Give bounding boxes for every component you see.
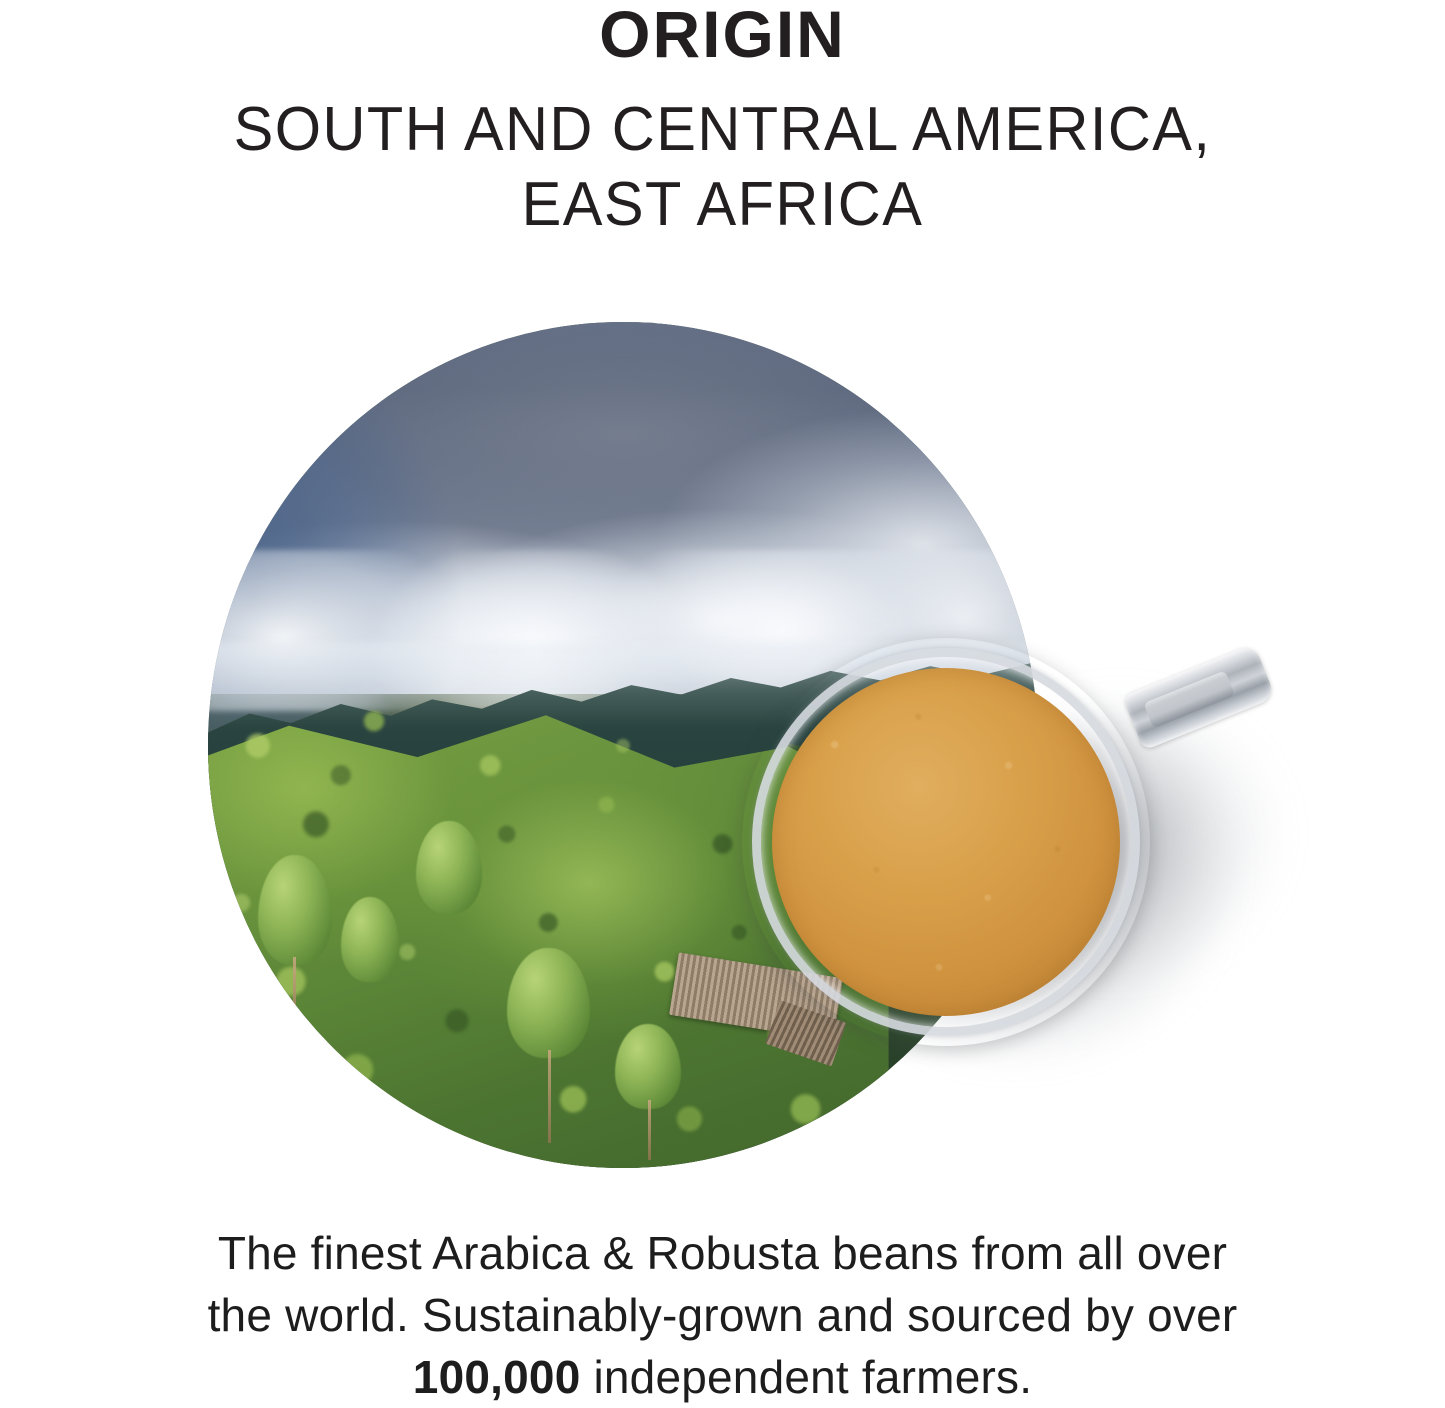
tree-6 <box>225 982 283 1058</box>
origin-photo <box>208 322 1038 1168</box>
description-line-2: the world. Sustainably-grown and sourced… <box>0 1284 1445 1346</box>
cup-handle <box>1122 644 1275 751</box>
page-title: ORIGIN <box>0 0 1445 66</box>
farmer-count: 100,000 <box>413 1351 581 1403</box>
tree-trunk-5 <box>648 1100 651 1159</box>
description-line-3-tail: independent farmers. <box>580 1351 1032 1403</box>
tree-trunk-4 <box>548 1050 551 1143</box>
subtitle-line-1: SOUTH AND CENTRAL AMERICA, <box>29 92 1416 167</box>
subtitle-line-2: EAST AFRICA <box>29 167 1416 242</box>
tree-trunk-1 <box>293 957 296 1033</box>
origin-infographic-page: ORIGIN SOUTH AND CENTRAL AMERICA, EAST A… <box>0 0 1445 1408</box>
photo-circle-mask <box>208 322 1038 1168</box>
description-line-1: The finest Arabica & Robusta beans from … <box>0 1222 1445 1284</box>
tree-5 <box>615 1024 681 1109</box>
description-line-3: 100,000 independent farmers. <box>0 1346 1445 1408</box>
description-paragraph: The finest Arabica & Robusta beans from … <box>0 1222 1445 1408</box>
cup-drop-shadow-soft <box>1000 690 1400 1050</box>
tree-3 <box>416 821 482 914</box>
tree-4 <box>507 948 590 1058</box>
header-block: ORIGIN SOUTH AND CENTRAL AMERICA, EAST A… <box>0 0 1445 242</box>
page-subtitle: SOUTH AND CENTRAL AMERICA, EAST AFRICA <box>29 66 1416 242</box>
tree-2 <box>341 897 399 982</box>
